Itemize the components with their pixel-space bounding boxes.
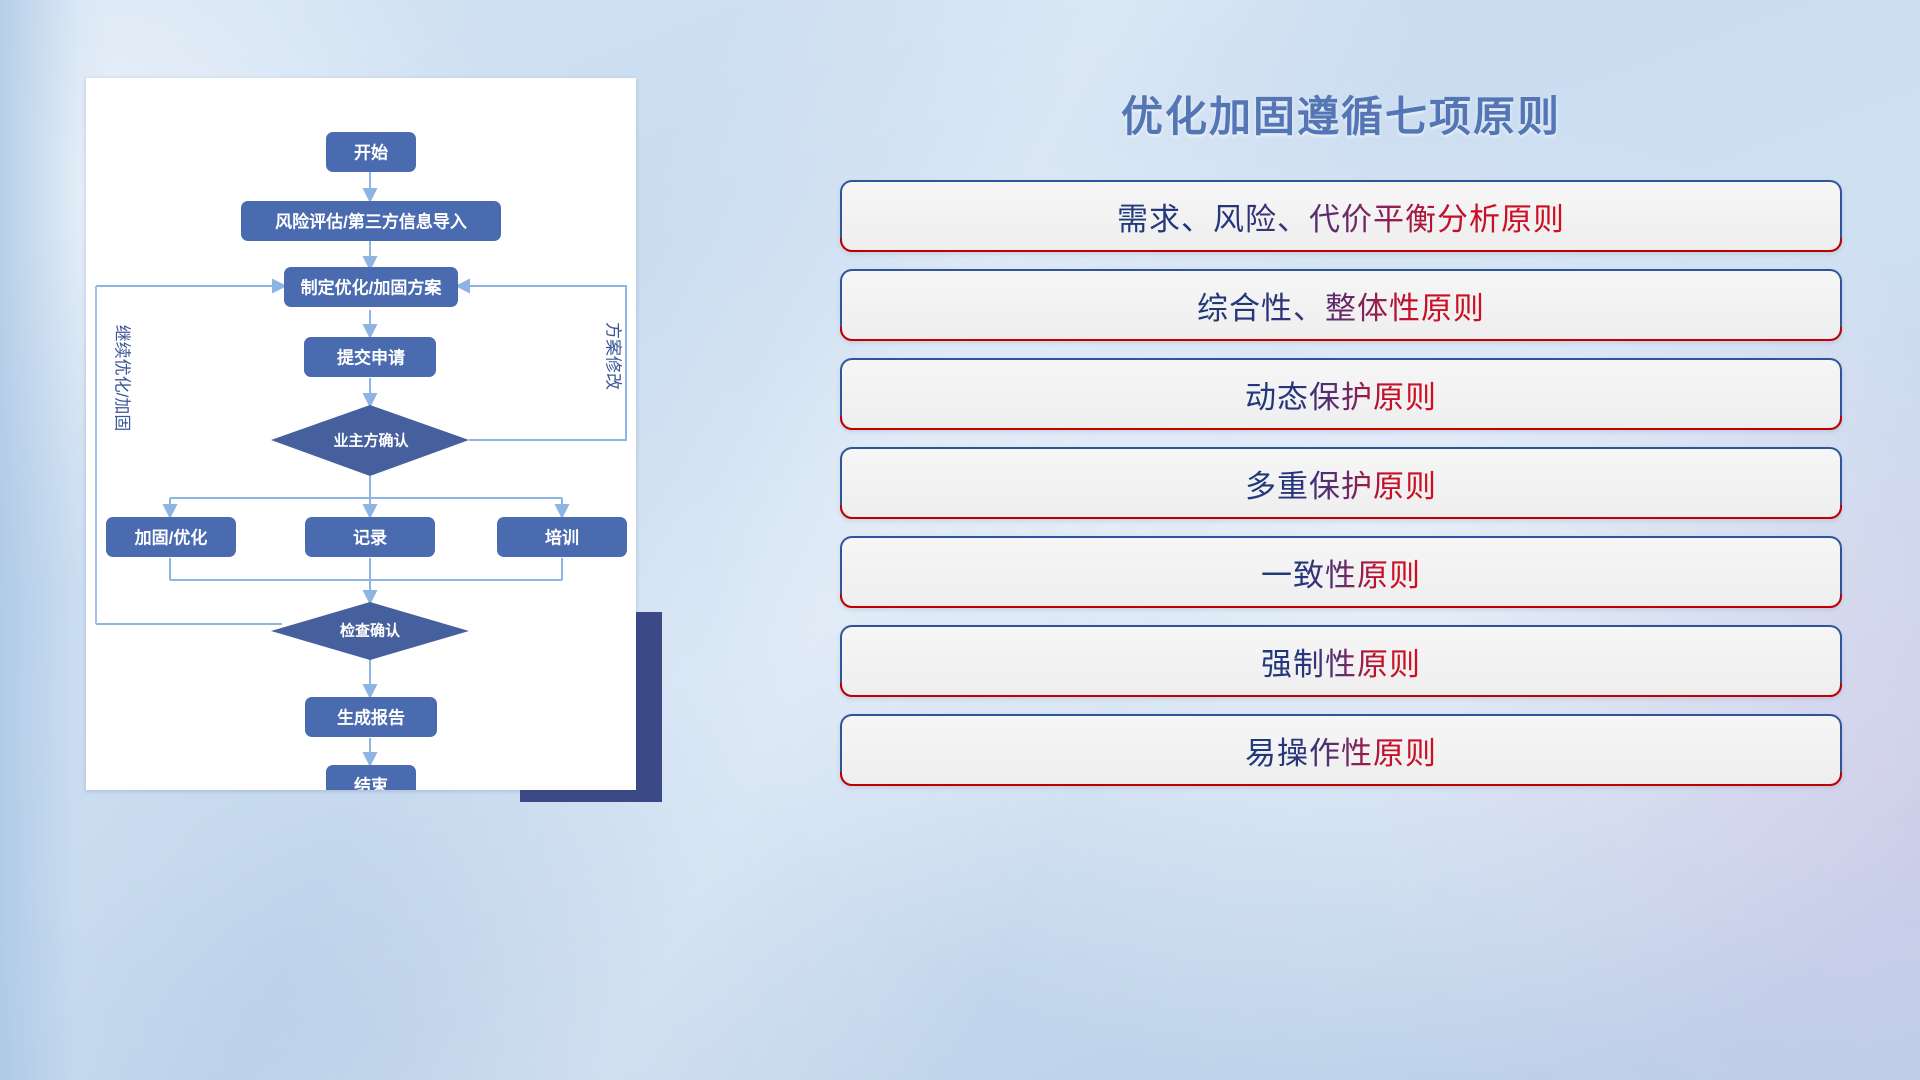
flow-node-owner-confirm[interactable]: 业主方确认 xyxy=(271,405,469,476)
principles-list: 需求、风险、代价平衡分析原则 综合性、整体性原则 动态保护原则 多重保护原则 一… xyxy=(836,180,1846,786)
principle-item[interactable]: 易操作性原则 xyxy=(840,714,1842,786)
principle-label: 动态保护原则 xyxy=(1245,372,1437,417)
flow-node-plan[interactable]: 制定优化/加固方案 xyxy=(284,267,458,307)
principle-item[interactable]: 多重保护原则 xyxy=(840,447,1842,519)
principle-item[interactable]: 需求、风险、代价平衡分析原则 xyxy=(840,180,1842,252)
principle-label: 综合性、整体性原则 xyxy=(1197,283,1485,328)
principle-item[interactable]: 综合性、整体性原则 xyxy=(840,269,1842,341)
flow-node-label: 开始 xyxy=(354,143,388,163)
principle-label: 易操作性原则 xyxy=(1245,728,1437,773)
flow-node-label: 风险评估/第三方信息导入 xyxy=(275,212,467,232)
flow-node-label: 业主方确认 xyxy=(333,432,409,450)
flow-node-risk-assessment[interactable]: 风险评估/第三方信息导入 xyxy=(241,201,501,241)
flow-node-start[interactable]: 开始 xyxy=(326,132,416,172)
flow-node-report[interactable]: 生成报告 xyxy=(305,697,437,737)
flow-node-label: 检查确认 xyxy=(340,622,401,640)
flow-node-label: 制定优化/加固方案 xyxy=(301,278,443,298)
principles-panel: 优化加固遵循七项原则 需求、风险、代价平衡分析原则 综合性、整体性原则 动态保护… xyxy=(836,78,1846,818)
flow-node-record[interactable]: 记录 xyxy=(305,517,435,557)
principle-label: 需求、风险、代价平衡分析原则 xyxy=(1117,194,1565,239)
principle-label: 多重保护原则 xyxy=(1245,461,1437,506)
flow-node-end[interactable]: 结束 xyxy=(326,765,416,790)
flowchart-card: 开始 风险评估/第三方信息导入 制定优化/加固方案 提交申请 业主方确认 加固/… xyxy=(86,78,636,790)
panel-title: 优化加固遵循七项原则 xyxy=(836,78,1846,138)
flow-node-label: 生成报告 xyxy=(337,708,405,728)
flow-node-training[interactable]: 培训 xyxy=(497,517,627,557)
principle-label: 一致性原则 xyxy=(1261,550,1421,595)
flowchart-diagram: 开始 风险评估/第三方信息导入 制定优化/加固方案 提交申请 业主方确认 加固/… xyxy=(86,78,636,790)
principle-label: 强制性原则 xyxy=(1261,639,1421,684)
principle-item[interactable]: 一致性原则 xyxy=(840,536,1842,608)
flow-node-label: 培训 xyxy=(545,528,579,548)
flow-node-label: 提交申请 xyxy=(337,348,405,368)
flow-node-label: 加固/优化 xyxy=(134,528,208,548)
flow-node-check-confirm[interactable]: 检查确认 xyxy=(271,602,469,660)
flow-node-label: 结束 xyxy=(354,776,388,791)
flow-edge-label-continue-optimize: 继续优化/加固 xyxy=(113,325,132,432)
principle-item[interactable]: 动态保护原则 xyxy=(840,358,1842,430)
principle-item[interactable]: 强制性原则 xyxy=(840,625,1842,697)
flow-node-label: 记录 xyxy=(353,529,387,548)
flow-node-submit[interactable]: 提交申请 xyxy=(304,337,436,377)
flow-edge-label-plan-revision: 方案修改 xyxy=(604,322,623,390)
flow-node-reinforce[interactable]: 加固/优化 xyxy=(106,517,236,557)
